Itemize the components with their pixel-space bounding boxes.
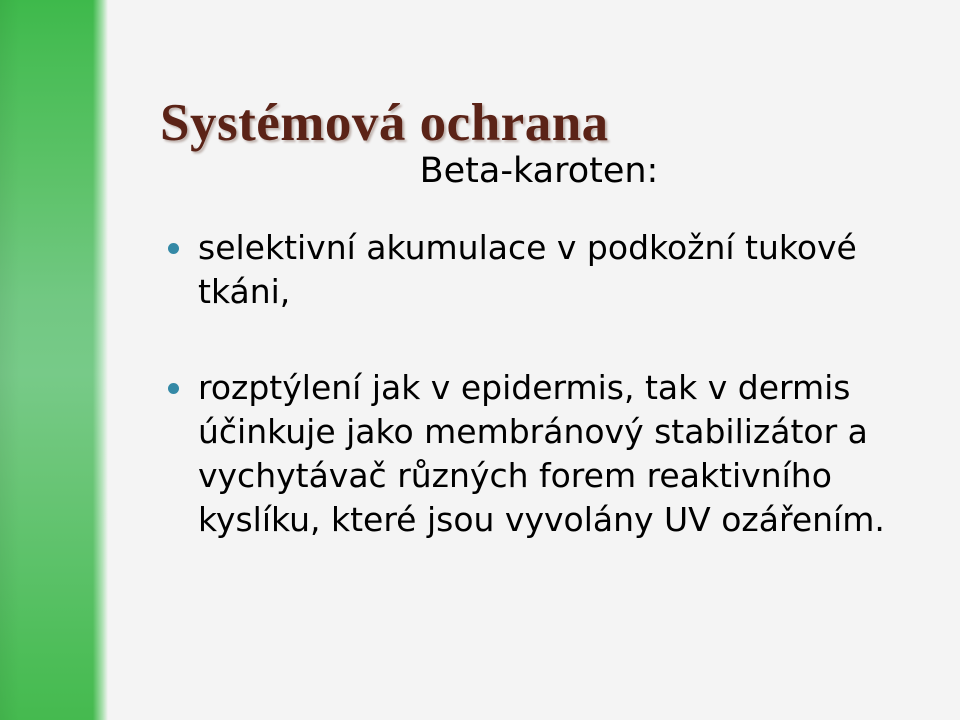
band-shading-overlay xyxy=(0,0,108,720)
content-subtitle: Beta-karoten: xyxy=(108,150,960,192)
bullet-dot-icon xyxy=(168,243,179,254)
list-item-text: rozptýlení jak v epidermis, tak v dermis… xyxy=(198,366,930,542)
list-item: rozptýlení jak v epidermis, tak v dermis… xyxy=(168,366,930,542)
list-item-text: selektivní akumulace v podkožní tukové t… xyxy=(198,226,930,314)
slide-content-body: Beta-karoten: selektivní akumulace v pod… xyxy=(108,150,960,710)
bullet-list: selektivní akumulace v podkožní tukové t… xyxy=(108,226,960,542)
bullet-dot-icon xyxy=(168,383,179,394)
left-green-decorative-band xyxy=(0,0,108,720)
presentation-slide: Systémová ochrana Beta-karoten: selektiv… xyxy=(0,0,960,720)
list-item: selektivní akumulace v podkožní tukové t… xyxy=(168,226,930,314)
page-title: Systémová ochrana xyxy=(160,94,920,152)
